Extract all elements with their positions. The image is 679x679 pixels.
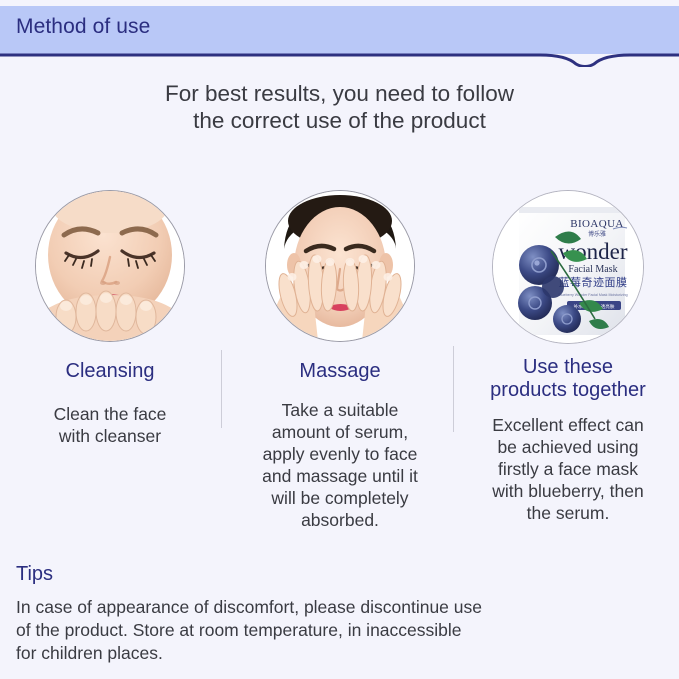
tips-title: Tips xyxy=(16,562,666,586)
hero-heading: For best results, you need to follow the… xyxy=(0,80,679,134)
step-cleansing: Cleansing Clean the face with cleanser xyxy=(10,168,210,447)
step-body-line-5: will be completely xyxy=(238,487,442,509)
step-massage: Massage Take a suitable amount of serum,… xyxy=(238,168,442,531)
column-divider-1 xyxy=(221,350,222,428)
step-body-line-2: amount of serum, xyxy=(238,421,442,443)
svg-text:Blueberry Wonder Facial Mask M: Blueberry Wonder Facial Mask Moisturizin… xyxy=(558,293,627,297)
step-caption-line-2: products together xyxy=(464,379,672,402)
step-caption: Cleansing xyxy=(10,360,210,383)
steps-row: Cleansing Clean the face with cleanser xyxy=(0,168,679,568)
tips-body: In case of appearance of discomfort, ple… xyxy=(16,596,666,665)
step-products: BIOAQUA 博乐雅 wonder Facial Mask 蓝莓奇迹面膜 Bl… xyxy=(464,168,672,524)
header-divider-with-notch xyxy=(0,53,679,67)
step-caption-line-1: Massage xyxy=(299,360,380,382)
step-body: Excellent effect can be achieved using f… xyxy=(464,414,672,524)
step-body-line-2: with cleanser xyxy=(10,425,210,447)
massage-illustration xyxy=(266,191,414,341)
tips-line-3: for children places. xyxy=(16,642,666,665)
method-of-use-page: Method of use For best results, you need… xyxy=(0,0,679,679)
hero-line-2: the correct use of the product xyxy=(0,107,679,134)
massage-photo xyxy=(265,190,415,342)
step-caption-line-1: Cleansing xyxy=(66,360,155,382)
step-body-line-2: be achieved using xyxy=(464,436,672,458)
step-body: Clean the face with cleanser xyxy=(10,403,210,447)
cleansing-illustration xyxy=(36,191,184,341)
step-caption-line-1: Use these xyxy=(464,356,672,379)
step-body: Take a suitable amount of serum, apply e… xyxy=(238,399,442,531)
product-package-illustration: BIOAQUA 博乐雅 wonder Facial Mask 蓝莓奇迹面膜 Bl… xyxy=(493,191,643,343)
product-photo: BIOAQUA 博乐雅 wonder Facial Mask 蓝莓奇迹面膜 Bl… xyxy=(492,190,644,344)
tips-section: Tips In case of appearance of discomfort… xyxy=(16,562,666,665)
package-subtitle: Facial Mask xyxy=(568,264,617,275)
step-body-line-1: Excellent effect can xyxy=(464,414,672,436)
tips-line-2: of the product. Store at room temperatur… xyxy=(16,619,666,642)
column-divider-2 xyxy=(453,346,454,432)
page-title: Method of use xyxy=(16,15,150,39)
step-body-line-1: Clean the face xyxy=(10,403,210,425)
step-body-line-6: absorbed. xyxy=(238,509,442,531)
step-caption: Use these products together xyxy=(464,356,672,402)
step-body-line-1: Take a suitable xyxy=(238,399,442,421)
step-body-line-4: and massage until it xyxy=(238,465,442,487)
step-body-line-5: the serum. xyxy=(464,502,672,524)
header-bar: Method of use xyxy=(0,6,679,54)
step-body-line-3: firstly a face mask xyxy=(464,458,672,480)
step-body-line-3: apply evenly to face xyxy=(238,443,442,465)
tips-line-1: In case of appearance of discomfort, ple… xyxy=(16,596,666,619)
step-body-line-4: with blueberry, then xyxy=(464,480,672,502)
svg-text:博乐雅: 博乐雅 xyxy=(588,230,606,238)
hero-line-1: For best results, you need to follow xyxy=(165,81,514,106)
step-caption: Massage xyxy=(238,360,442,383)
cleansing-photo xyxy=(35,190,185,342)
